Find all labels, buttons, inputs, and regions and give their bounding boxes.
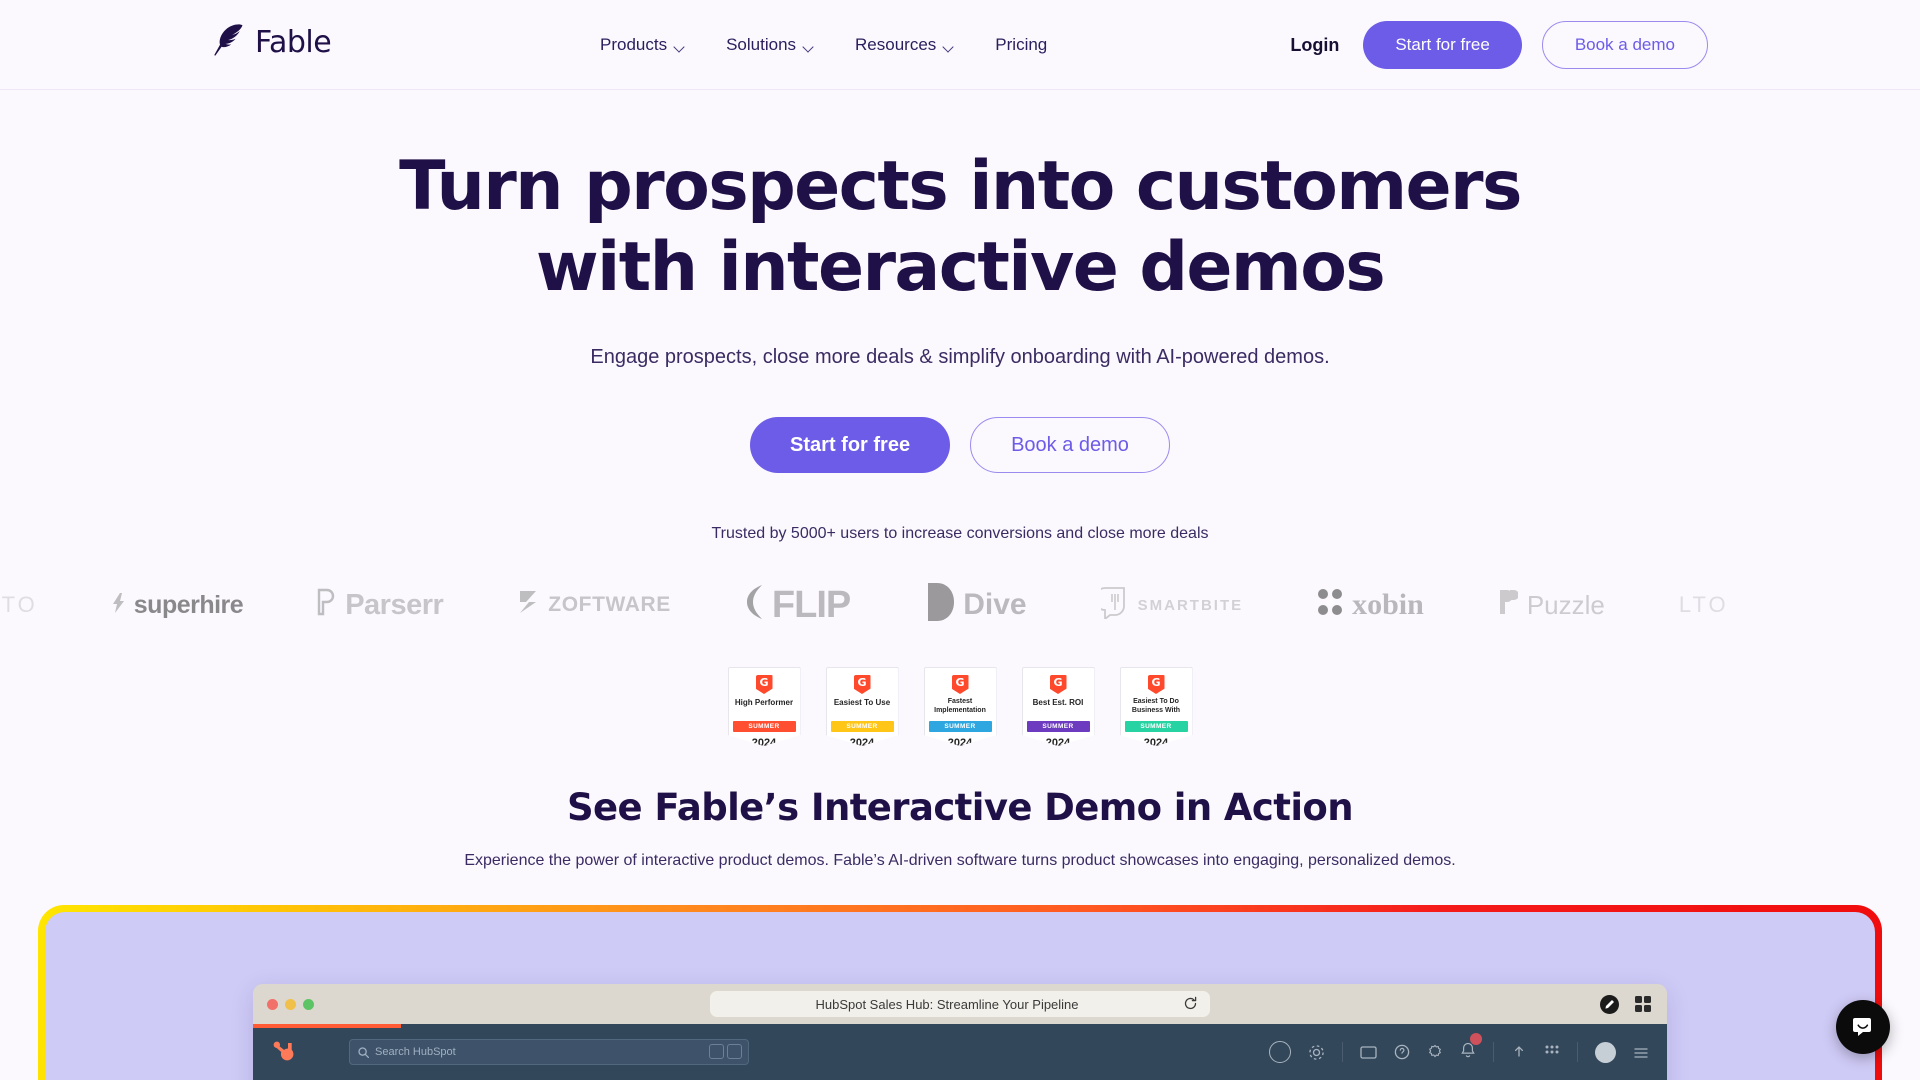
hero-book-a-demo-button[interactable]: Book a demo bbox=[970, 417, 1170, 473]
g2-badge-easiest-to-do-business-with: G Easiest To Do Business With SUMMER 202… bbox=[1120, 667, 1193, 746]
site-header: Fable Products Solutions Resources Prici… bbox=[0, 0, 1920, 90]
app-top-nav: Search HubSpot bbox=[253, 1024, 1667, 1072]
g2-logo-icon: G bbox=[756, 675, 773, 694]
zoftware-mark-icon bbox=[517, 589, 539, 622]
settings-icon[interactable] bbox=[1427, 1044, 1443, 1060]
chevron-down-icon bbox=[675, 43, 686, 50]
settings-gear-icon[interactable] bbox=[1308, 1044, 1325, 1061]
hero-headline-line2: with interactive demos bbox=[0, 234, 1920, 302]
customer-logo-lto-repeat: LTO bbox=[1679, 592, 1729, 618]
customer-logo-label: Dive bbox=[963, 588, 1026, 622]
nav-label: Products bbox=[600, 0, 667, 90]
g2-badge-best-est-roi: G Best Est. ROI SUMMER 2024 bbox=[1022, 667, 1095, 746]
header-start-for-free-button[interactable]: Start for free bbox=[1363, 21, 1521, 69]
g2-badge-title: Best Est. ROI bbox=[1023, 698, 1094, 717]
account-menu-icon[interactable] bbox=[1633, 1044, 1649, 1060]
demo-intro-section: See Fable’s Interactive Demo in Action E… bbox=[0, 786, 1920, 870]
customer-logo-zoftware: ZOFTWARE bbox=[517, 589, 671, 622]
hero-subheadline: Engage prospects, close more deals & sim… bbox=[0, 346, 1920, 369]
customer-logo-label: FLIP bbox=[772, 584, 850, 627]
browser-url-bar[interactable]: HubSpot Sales Hub: Streamline Your Pipel… bbox=[710, 991, 1210, 1017]
customer-logo-dive: Dive bbox=[924, 581, 1026, 630]
customer-logo-label: ZOFTWARE bbox=[548, 593, 671, 617]
g2-badge-period: SUMMER bbox=[1027, 721, 1090, 732]
puzzle-mark-icon bbox=[1498, 588, 1518, 623]
customer-logo-label: superhire bbox=[134, 591, 243, 620]
close-window-dot[interactable] bbox=[267, 999, 278, 1010]
g2-badge-year: 2024 bbox=[827, 737, 898, 749]
demo-browser-window: HubSpot Sales Hub: Streamline Your Pipel… bbox=[253, 984, 1667, 1080]
customer-logo-smartbite: SMARTBITE bbox=[1101, 585, 1244, 626]
g2-badge-title: Easiest To Do Business With bbox=[1121, 698, 1192, 717]
g2-logo-icon: G bbox=[1148, 675, 1165, 694]
customer-logo-marquee: LTO superhire Parserr ZOFTWARE bbox=[0, 569, 1920, 641]
g2-badge-year: 2024 bbox=[925, 737, 996, 749]
xobin-mark-icon bbox=[1317, 588, 1343, 623]
logo-text: Fable bbox=[255, 25, 331, 60]
customer-logo-label: Parserr bbox=[345, 589, 443, 622]
customer-logo-label: SMARTBITE bbox=[1138, 597, 1244, 614]
customer-logo-superhire: superhire bbox=[112, 591, 243, 620]
bolt-icon bbox=[112, 591, 125, 620]
header-actions: Login Start for free Book a demo bbox=[1290, 0, 1708, 90]
app-search-input[interactable]: Search HubSpot bbox=[349, 1039, 749, 1065]
customer-logo-xobin: xobin bbox=[1317, 588, 1424, 623]
ai-assistant-icon[interactable] bbox=[1269, 1041, 1291, 1063]
g2-badge-period: SUMMER bbox=[733, 721, 796, 732]
hero-section: Turn prospects into customers with inter… bbox=[0, 90, 1920, 543]
customer-logo-parserr: Parserr bbox=[317, 588, 443, 623]
parserr-mark-icon bbox=[317, 588, 336, 623]
upload-icon[interactable] bbox=[1511, 1044, 1527, 1060]
nav-divider bbox=[1577, 1042, 1578, 1062]
browser-chrome-bar: HubSpot Sales Hub: Streamline Your Pipel… bbox=[253, 984, 1667, 1024]
g2-badge-year: 2024 bbox=[1023, 737, 1094, 749]
hero-start-for-free-button[interactable]: Start for free bbox=[750, 417, 950, 473]
nav-divider bbox=[1342, 1042, 1343, 1062]
g2-badge-period: SUMMER bbox=[831, 721, 894, 732]
nav-item-pricing[interactable]: Pricing bbox=[995, 0, 1047, 90]
customer-logo-label: LTO bbox=[1679, 592, 1729, 618]
hubspot-sprocket-icon[interactable] bbox=[271, 1039, 297, 1065]
nav-label: Resources bbox=[855, 0, 936, 90]
pencil-icon[interactable] bbox=[1600, 995, 1619, 1014]
header-book-a-demo-button[interactable]: Book a demo bbox=[1542, 21, 1708, 69]
app-accent-bar bbox=[253, 1024, 401, 1028]
marketplace-icon[interactable] bbox=[1360, 1045, 1377, 1060]
g2-badge-year: 2024 bbox=[1121, 737, 1192, 749]
chevron-down-icon bbox=[804, 43, 815, 50]
app-search-placeholder: Search HubSpot bbox=[375, 1046, 456, 1058]
avatar[interactable] bbox=[1595, 1042, 1616, 1063]
logo[interactable]: Fable bbox=[212, 22, 331, 63]
g2-badge-easiest-to-use: G Easiest To Use SUMMER 2024 bbox=[826, 667, 899, 746]
feather-logo-icon bbox=[212, 22, 246, 63]
g2-badge-fastest-implementation: G Fastest Implementation SUMMER 2024 bbox=[924, 667, 997, 746]
trusted-by-text: Trusted by 5000+ users to increase conve… bbox=[0, 525, 1920, 543]
customer-logo-puzzle: Puzzle bbox=[1498, 588, 1605, 623]
nav-item-products[interactable]: Products bbox=[600, 0, 686, 90]
browser-bar-icons bbox=[1600, 995, 1651, 1014]
maximize-window-dot[interactable] bbox=[303, 999, 314, 1010]
help-icon[interactable] bbox=[1394, 1044, 1410, 1060]
nav-item-solutions[interactable]: Solutions bbox=[726, 0, 815, 90]
customer-logo-label: LTO bbox=[0, 592, 38, 618]
apps-menu-icon[interactable] bbox=[1544, 1044, 1560, 1060]
g2-logo-icon: G bbox=[952, 675, 969, 694]
demo-inner-stage: HubSpot Sales Hub: Streamline Your Pipel… bbox=[45, 912, 1875, 1080]
g2-logo-icon: G bbox=[1050, 675, 1067, 694]
hero-cta-group: Start for free Book a demo bbox=[0, 417, 1920, 473]
search-shortcut-keys bbox=[709, 1044, 742, 1059]
grid-icon[interactable] bbox=[1635, 996, 1651, 1012]
app-nav-icons bbox=[1269, 1041, 1649, 1063]
g2-badge-high-performer: G High Performer SUMMER 2024 bbox=[728, 667, 801, 746]
chevron-down-icon bbox=[944, 43, 955, 50]
customer-logo-flip: FLIP bbox=[745, 583, 850, 628]
page-root: Fable Products Solutions Resources Prici… bbox=[0, 0, 1920, 1080]
g2-badge-period: SUMMER bbox=[1125, 721, 1188, 732]
traffic-lights bbox=[267, 999, 314, 1010]
demo-section-description: Experience the power of interactive prod… bbox=[0, 852, 1920, 870]
hero-headline-line1: Turn prospects into customers bbox=[399, 147, 1521, 226]
main-nav: Products Solutions Resources Pricing bbox=[600, 0, 1047, 90]
g2-logo-icon: G bbox=[854, 675, 871, 694]
dive-mark-icon bbox=[924, 581, 954, 630]
flip-mark-icon bbox=[745, 583, 763, 628]
login-link[interactable]: Login bbox=[1290, 35, 1339, 56]
browser-url-title: HubSpot Sales Hub: Streamline Your Pipel… bbox=[815, 997, 1078, 1012]
customer-logo-label: xobin bbox=[1352, 588, 1424, 622]
g2-badge-title: Fastest Implementation bbox=[925, 698, 996, 717]
g2-badge-row: G High Performer SUMMER 2024 G Easiest T… bbox=[0, 667, 1920, 746]
marquee-track: LTO superhire Parserr ZOFTWARE bbox=[0, 569, 1729, 641]
smartbite-mark-icon bbox=[1101, 585, 1129, 626]
interactive-demo-frame[interactable]: HubSpot Sales Hub: Streamline Your Pipel… bbox=[38, 905, 1882, 1080]
minimize-window-dot[interactable] bbox=[285, 999, 296, 1010]
hero-headline: Turn prospects into customers with inter… bbox=[0, 153, 1920, 302]
notification-badge bbox=[1470, 1033, 1482, 1045]
customer-logo-label: Puzzle bbox=[1527, 590, 1605, 621]
demo-section-heading: See Fable’s Interactive Demo in Action bbox=[0, 786, 1920, 829]
notifications-bell-wrap[interactable] bbox=[1460, 1042, 1476, 1062]
g2-badge-period: SUMMER bbox=[929, 721, 992, 732]
g2-badge-title: Easiest To Use bbox=[827, 698, 898, 717]
search-icon bbox=[358, 1047, 369, 1058]
nav-label: Solutions bbox=[726, 0, 796, 90]
nav-item-resources[interactable]: Resources bbox=[855, 0, 955, 90]
chat-widget-button[interactable] bbox=[1836, 1000, 1890, 1054]
g2-badge-year: 2024 bbox=[729, 737, 800, 749]
demo-app-viewport: Search HubSpot bbox=[253, 1024, 1667, 1080]
customer-logo-lto: LTO bbox=[0, 592, 38, 618]
intercom-chat-icon bbox=[1850, 1014, 1876, 1040]
reload-icon[interactable] bbox=[1183, 996, 1198, 1011]
nav-label: Pricing bbox=[995, 0, 1047, 90]
g2-badge-title: High Performer bbox=[729, 698, 800, 717]
nav-divider bbox=[1493, 1042, 1494, 1062]
